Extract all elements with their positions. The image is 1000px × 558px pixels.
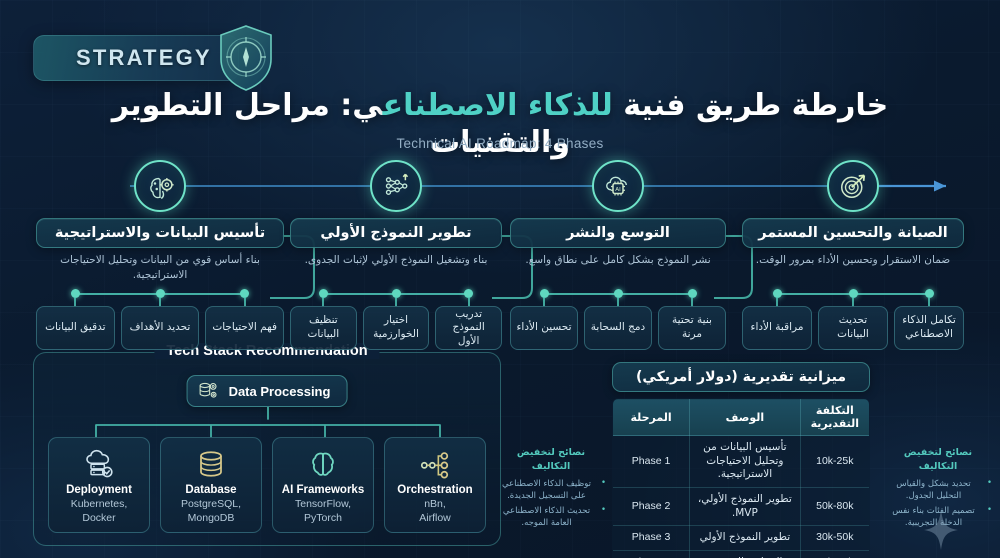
budget-table: التكلفة التقديريةالوصفالمرحلة 10k-25kتأس…	[612, 398, 870, 558]
phase-4-item-1[interactable]: مراقبة الأداء	[742, 306, 812, 350]
strategy-label: STRATEGY	[76, 45, 212, 71]
compass-shield-icon	[217, 23, 275, 93]
tech-card-icon-wrap	[83, 447, 115, 481]
budget-cell-cost: 10k-25k	[800, 436, 869, 488]
phase-1-description: بناء أساس قوي من البيانات وتحليل الاحتيا…	[40, 253, 280, 283]
phase-4-items: مراقبة الأداءتحديث البياناتتكامل الذكاء …	[742, 288, 964, 340]
budget-col-3: المرحلة	[613, 399, 690, 436]
budget-row: 30k-50kتطوير النموذج الأوليPhase 3	[613, 526, 870, 551]
phase-4-item-2[interactable]: تحديث البيانات	[818, 306, 888, 350]
budget-section: ميزانية تقديرية (دولار أمريكي) التكلفة ا…	[612, 362, 870, 558]
phase-2-title: تطوير النموذج الأولي	[290, 218, 502, 248]
phase-2-item-1[interactable]: تنظيف البيانات	[290, 306, 357, 350]
infographic-root: STRATEGY خارطة طريق فنية للذكاء الاصطناع…	[0, 0, 1000, 558]
neural-network-arrow-icon	[381, 171, 411, 201]
budget-cell-desc: تطوير النموذج الأولي	[690, 526, 801, 551]
page-subtitle: Technical AI Roadmap: 4 Phases	[0, 136, 1000, 151]
tech-stack-cards: OrchestrationnBn,AirflowAI FrameworksTen…	[48, 437, 486, 533]
phase-3-item-2[interactable]: دمج السحابة	[584, 306, 652, 350]
tech-card-ai-frameworks[interactable]: AI FrameworksTensorFlow,PyTorch	[272, 437, 374, 533]
budget-cell-phase: Phase 4	[613, 550, 690, 558]
tips-right-title: نصائح لتخفيض التكاليف	[884, 446, 992, 474]
tips-left-item-1: توظيف الذكاء الاصطناعي على التسجيل الجدي…	[496, 478, 606, 503]
tech-card-items: nBn,Airflow	[419, 498, 451, 525]
budget-cell-desc: تطوير النموذج الأولي، MVP.	[690, 487, 801, 525]
budget-row: 10k-20kالصيانة والتحسينPhase 4	[613, 550, 870, 558]
phase-3-items: تحسين الأداءدمج السحابةبنية تحتية مرنة	[510, 288, 726, 340]
database-icon	[195, 448, 227, 480]
svg-text:AI: AI	[615, 187, 621, 193]
phase-4-node[interactable]	[827, 160, 879, 212]
tech-card-orchestration[interactable]: OrchestrationnBn,Airflow	[384, 437, 486, 533]
budget-col-2: الوصف	[690, 399, 801, 436]
phase-1-item-1[interactable]: تدقيق البيانات	[36, 306, 115, 350]
phase-1-items: تدقيق البياناتتحديد الأهداففهم الاحتياجا…	[36, 288, 284, 340]
budget-cell-desc: تأسيس البيانات من وتحليل الاحتياجات الاس…	[690, 436, 801, 488]
cloud-ai-chip-icon: AI	[603, 171, 633, 201]
phases-container: تأسيس البيانات والاستراتيجيةبناء أساس قو…	[0, 160, 1000, 340]
budget-cell-phase: Phase 2	[613, 487, 690, 525]
budget-table-body: 10k-25kتأسيس البيانات من وتحليل الاحتياج…	[613, 436, 870, 558]
brain-gear-icon	[145, 171, 175, 201]
budget-cell-cost: 30k-50k	[800, 526, 869, 551]
phase-2-node[interactable]	[370, 160, 422, 212]
cloud-server-check-icon	[83, 448, 115, 480]
phase-3-item-1[interactable]: تحسين الأداء	[510, 306, 578, 350]
phase-2-description: بناء وتشغيل النموذج الأولي لإثبات الجدوى…	[294, 253, 498, 268]
tech-card-database[interactable]: DatabasePostgreSQL,MongoDB	[160, 437, 262, 533]
phase-1-item-2[interactable]: تحديد الأهداف	[121, 306, 200, 350]
tech-card-icon-wrap	[419, 447, 451, 481]
phase-4-description: ضمان الاستقرار وتحسين الأداء بمرور الوقت…	[746, 253, 960, 268]
tech-card-items: TensorFlow,PyTorch	[295, 498, 351, 525]
budget-cell-phase: Phase 1	[613, 436, 690, 488]
brain-icon	[307, 448, 339, 480]
title-highlight: للذكاء الاصطناع	[383, 88, 613, 123]
phase-1-node[interactable]	[134, 160, 186, 212]
tech-card-name: Orchestration	[397, 484, 472, 496]
phase-3-title: التوسع والنشر	[510, 218, 726, 248]
phase-2-item-2[interactable]: اختيار الخوارزمية	[363, 306, 430, 350]
phase-3-description: نشر النموذج بشكل كامل على نطاق واسع.	[514, 253, 722, 268]
tech-stack-panel: Tech Stack Recommendation Data Processin…	[33, 352, 501, 546]
strategy-badge: STRATEGY	[33, 22, 275, 94]
phase-1-title: تأسيس البيانات والاستراتيجية	[36, 218, 284, 248]
target-arrow-icon	[838, 171, 868, 201]
data-processing-label: Data Processing	[229, 384, 331, 399]
budget-table-header-row: التكلفة التقديريةالوصفالمرحلة	[613, 399, 870, 436]
phase-2-item-3[interactable]: تدريب النموذج الأول	[435, 306, 502, 350]
tech-card-items: Kubernetes,Docker	[71, 498, 128, 525]
phase-4-title: الصيانة والتحسين المستمر	[742, 218, 964, 248]
budget-title: ميزانية تقديرية (دولار أمريكي)	[612, 362, 870, 392]
tech-card-deployment[interactable]: DeploymentKubernetes,Docker	[48, 437, 150, 533]
budget-cell-cost: 10k-20k	[800, 550, 869, 558]
phase-3-node[interactable]: AI	[592, 160, 644, 212]
budget-row: 10k-25kتأسيس البيانات من وتحليل الاحتياج…	[613, 436, 870, 488]
budget-row: 50k-80kتطوير النموذج الأولي، MVP.Phase 2	[613, 487, 870, 525]
tips-right-item-1: تحديد بشكل والقياس التحليل الجدول.	[884, 478, 992, 503]
database-gears-icon	[198, 380, 220, 402]
tech-card-name: Deployment	[66, 484, 132, 496]
tips-left-title: نصائح لتخفيض التكاليف	[496, 446, 606, 474]
phase-1-item-3[interactable]: فهم الاحتياجات	[205, 306, 284, 350]
budget-col-1: التكلفة التقديرية	[800, 399, 869, 436]
phase-4-item-3[interactable]: تكامل الذكاء الاصطناعي	[894, 306, 964, 350]
budget-cell-phase: Phase 3	[613, 526, 690, 551]
node-graph-icon	[419, 448, 451, 480]
tech-card-name: AI Frameworks	[282, 484, 364, 496]
data-processing-node[interactable]: Data Processing	[187, 375, 348, 407]
tips-left: نصائح لتخفيض التكاليف توظيف الذكاء الاصط…	[496, 446, 606, 533]
tips-left-list: توظيف الذكاء الاصطناعي على التسجيل الجدي…	[496, 478, 606, 530]
title-part-1: خارطة طريق فنية	[613, 88, 889, 123]
tech-card-icon-wrap	[307, 447, 339, 481]
phase-3-item-3[interactable]: بنية تحتية مرنة	[658, 306, 726, 350]
budget-cell-cost: 50k-80k	[800, 487, 869, 525]
sparkle-decoration-icon	[924, 510, 958, 550]
strategy-pill: STRATEGY	[33, 35, 239, 81]
phase-2-items: تنظيف البياناتاختيار الخوارزميةتدريب الن…	[290, 288, 502, 340]
tech-card-items: PostgreSQL,MongoDB	[181, 498, 241, 525]
budget-cell-desc: الصيانة والتحسين	[690, 550, 801, 558]
tech-card-icon-wrap	[195, 447, 227, 481]
tips-left-item-2: تحديث الذكاء الاصطناعي العامة الموجه.	[496, 505, 606, 530]
tech-card-name: Database	[185, 484, 236, 496]
